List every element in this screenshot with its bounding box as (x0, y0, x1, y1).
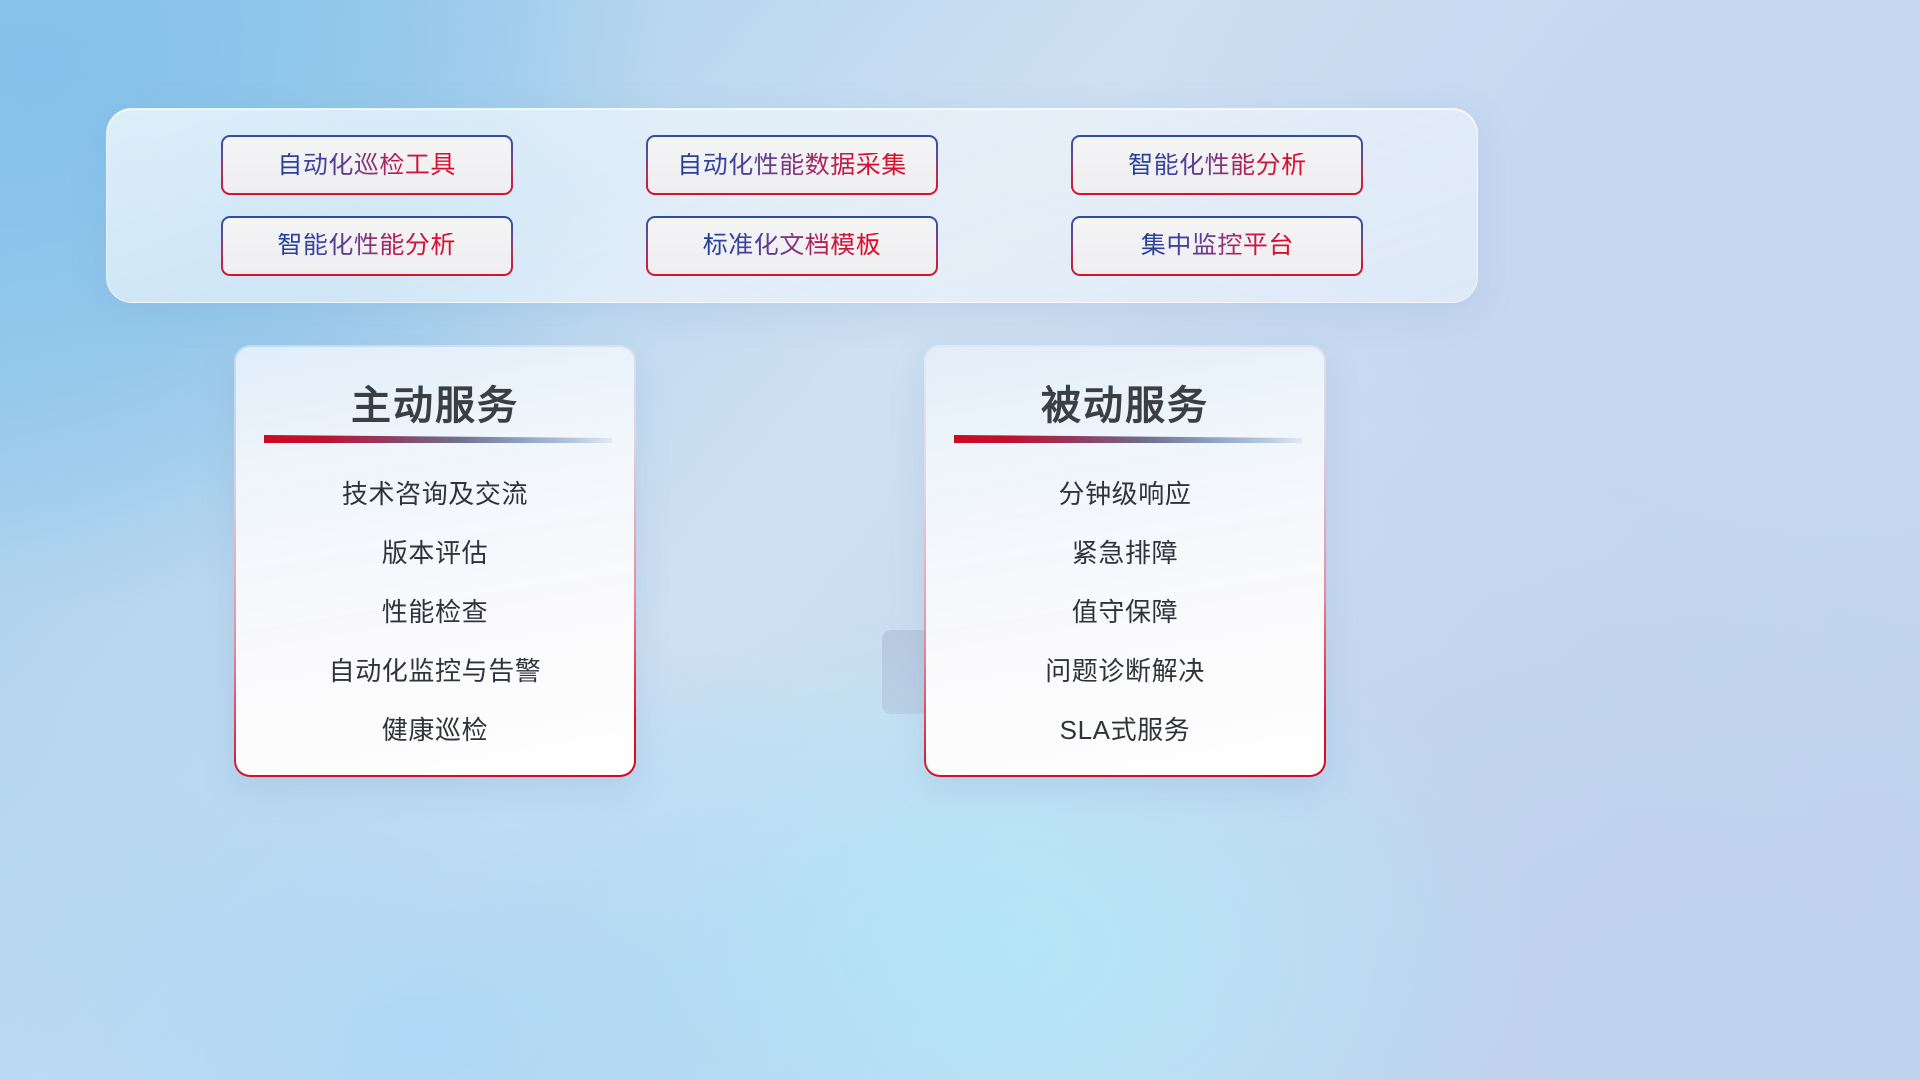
list-item: 问题诊断解决 (1045, 642, 1205, 701)
capability-chip[interactable]: 自动化巡检工具 (221, 135, 513, 195)
slide-canvas: 自动化巡检工具 自动化性能数据采集 智能化性能分析 智能化性能分析 标准化文档模… (0, 0, 1920, 1080)
card-title: 主动服务 (236, 373, 634, 431)
list-item: 自动化监控与告警 (329, 642, 542, 701)
capability-chip[interactable]: 智能化性能分析 (221, 216, 513, 276)
list-item: 性能检查 (382, 583, 488, 642)
capability-chip[interactable]: 集中监控平台 (1071, 216, 1363, 276)
capability-chip-label: 集中监控平台 (1141, 233, 1294, 258)
list-item: 版本评估 (382, 524, 488, 583)
reactive-service-list: 分钟级响应 紧急排障 值守保障 问题诊断解决 SLA式服务 (926, 465, 1324, 760)
capability-chip-grid: 自动化巡检工具 自动化性能数据采集 智能化性能分析 智能化性能分析 标准化文档模… (107, 109, 1477, 302)
capability-chip[interactable]: 智能化性能分析 (1071, 135, 1363, 195)
capability-chip-label: 智能化性能分析 (1128, 153, 1307, 178)
card-divider (264, 435, 612, 443)
list-item: 紧急排障 (1072, 524, 1178, 583)
card-divider (954, 435, 1302, 443)
list-item: 健康巡检 (382, 701, 488, 760)
list-item: 分钟级响应 (1058, 465, 1191, 524)
list-item: 值守保障 (1072, 583, 1178, 642)
capability-chip-label: 自动化巡检工具 (277, 153, 456, 178)
list-item: 技术咨询及交流 (342, 465, 528, 524)
list-item: SLA式服务 (1060, 701, 1191, 760)
proactive-service-list: 技术咨询及交流 版本评估 性能检查 自动化监控与告警 健康巡检 (236, 465, 634, 760)
capability-chip[interactable]: 自动化性能数据采集 (646, 135, 938, 195)
capability-chip-label: 标准化文档模板 (703, 233, 882, 258)
reactive-service-card: 被动服务 分钟级响应 紧急排障 值守保障 问题诊断解决 SLA式服务 (924, 345, 1326, 777)
card-title: 被动服务 (926, 373, 1324, 431)
capability-panel: 自动化巡检工具 自动化性能数据采集 智能化性能分析 智能化性能分析 标准化文档模… (106, 108, 1478, 303)
capability-chip-label: 智能化性能分析 (277, 233, 456, 258)
proactive-service-card: 主动服务 技术咨询及交流 版本评估 性能检查 自动化监控与告警 健康巡检 (234, 345, 636, 777)
capability-chip[interactable]: 标准化文档模板 (646, 216, 938, 276)
capability-chip-label: 自动化性能数据采集 (677, 153, 907, 178)
